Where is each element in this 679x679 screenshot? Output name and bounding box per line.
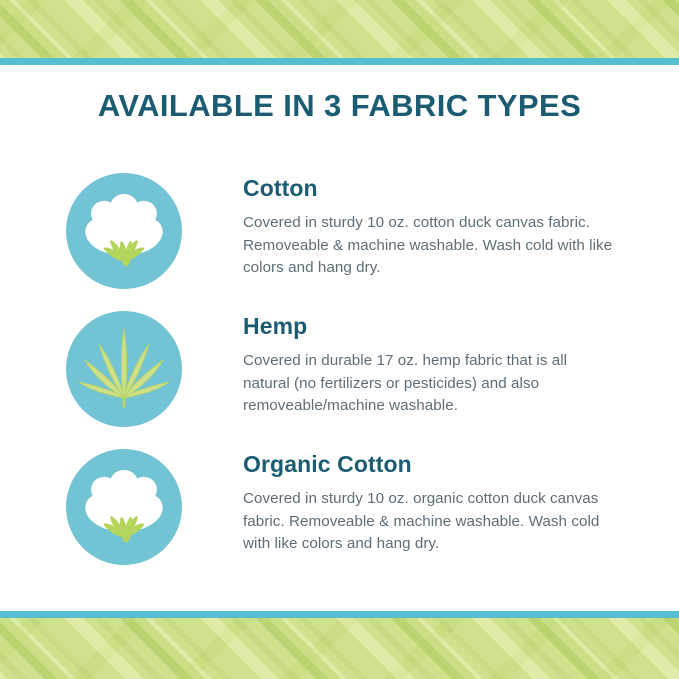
fabric-type-list: Cotton Covered in sturdy 10 oz. cotton d… — [0, 170, 679, 596]
top-decorative-band — [0, 0, 679, 58]
fabric-section-text: Organic Cotton Covered in sturdy 10 oz. … — [243, 446, 613, 556]
diagonal-dash-pattern — [0, 0, 679, 58]
cotton-boll-icon — [63, 170, 185, 292]
diagonal-dash-pattern — [0, 618, 679, 679]
bottom-teal-rule — [0, 611, 679, 618]
top-teal-rule — [0, 58, 679, 65]
section-body-hemp: Covered in durable 17 oz. hemp fabric th… — [243, 350, 613, 418]
fabric-section-text: Cotton Covered in sturdy 10 oz. cotton d… — [243, 170, 613, 280]
section-body-cotton: Covered in sturdy 10 oz. cotton duck can… — [243, 212, 613, 280]
section-heading-hemp: Hemp — [243, 314, 613, 338]
hemp-leaf-icon — [63, 308, 185, 430]
fabric-section-organic-cotton: Organic Cotton Covered in sturdy 10 oz. … — [0, 446, 679, 596]
fabric-section-hemp: Hemp Covered in durable 17 oz. hemp fabr… — [0, 308, 679, 446]
bottom-decorative-band — [0, 618, 679, 679]
cotton-boll-icon — [63, 446, 185, 568]
fabric-section-text: Hemp Covered in durable 17 oz. hemp fabr… — [243, 308, 613, 418]
section-body-organic-cotton: Covered in sturdy 10 oz. organic cotton … — [243, 488, 613, 556]
section-heading-organic-cotton: Organic Cotton — [243, 452, 613, 476]
page-title: AVAILABLE IN 3 FABRIC TYPES — [0, 88, 679, 124]
fabric-section-cotton: Cotton Covered in sturdy 10 oz. cotton d… — [0, 170, 679, 308]
section-heading-cotton: Cotton — [243, 176, 613, 200]
